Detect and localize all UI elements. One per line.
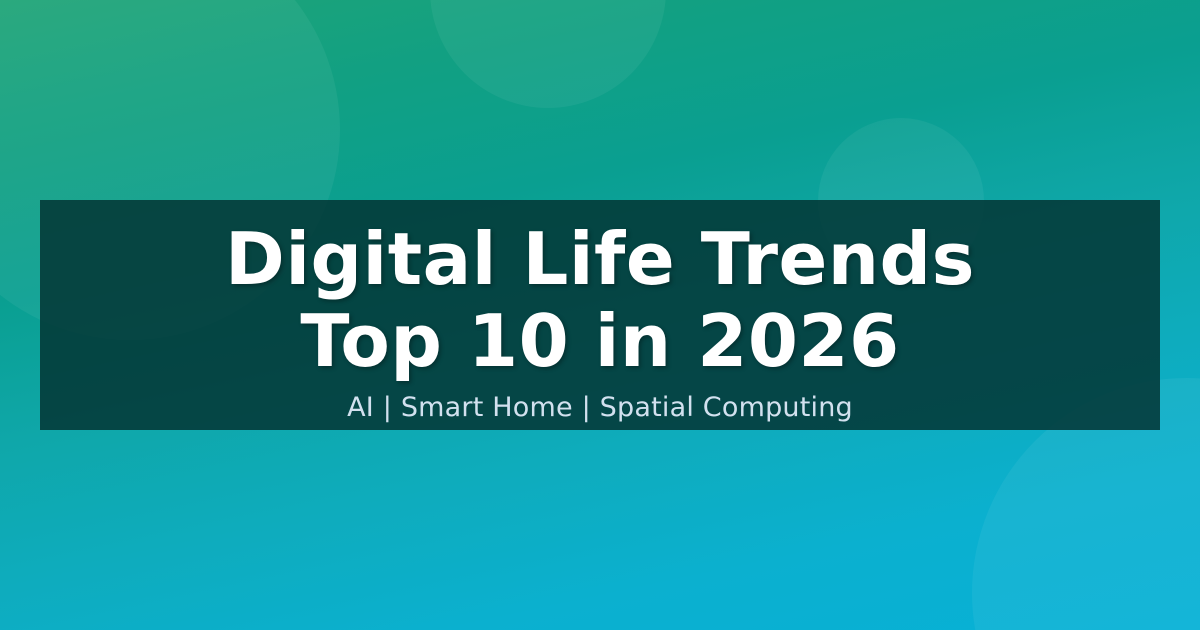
page-title: Digital Life Trends Top 10 in 2026 — [225, 218, 975, 382]
page-title-line-1: Digital Life Trends — [225, 218, 975, 300]
title-band: Digital Life Trends Top 10 in 2026 AI | … — [40, 200, 1160, 430]
page-title-line-2: Top 10 in 2026 — [225, 300, 975, 382]
decorative-circle-top-center — [430, 0, 666, 108]
page-subtitle: AI | Smart Home | Spatial Computing — [347, 392, 853, 424]
share-card: Digital Life Trends Top 10 in 2026 AI | … — [0, 0, 1200, 630]
